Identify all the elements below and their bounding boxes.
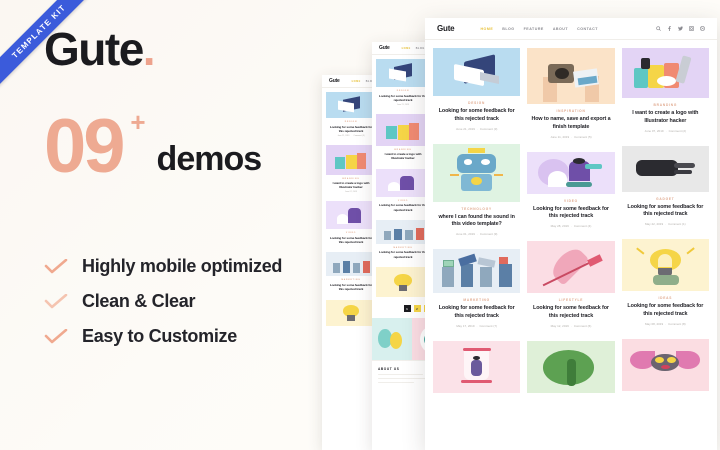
card-thumbnail-bat [622,339,709,391]
card-thumbnail-teleport [433,341,520,393]
card-category: TECHNOLOGY [437,207,516,211]
card-thumbnail-vrwoman [376,169,430,197]
card-category: LIFESTYLE [531,298,610,302]
card-caption: IDEAS Looking for some feedback for this… [622,291,709,332]
card-comments: Comment (2) [669,129,687,133]
card-title: Looking for some feedback for this rejec… [437,108,516,124]
browser-mockup-front: Gute HOME BLOG FEATURE ABOUT CONTACT [425,18,717,450]
card-date: May 22, 2019 [645,222,663,226]
card-caption: VIDEO Looking for some feedback for this… [527,194,614,235]
card-date: May 28, 2019 [551,224,569,228]
card-title: I want to create a logo with Illustrator… [378,152,428,161]
card-meta: June 21, 2019 [378,104,428,106]
list-item: Clean & Clear [44,291,374,312]
list-item[interactable] [622,339,709,391]
card-comments: Comment (6) [574,324,592,328]
card-comments: Comment (3) [480,127,498,131]
nav-item-home[interactable]: HOME [402,47,411,50]
card-meta: June 01, 2019·Comment (9) [437,232,516,236]
nav-icons [656,26,705,31]
card-title: Looking for some feedback for this rejec… [378,250,428,259]
list-item[interactable] [527,341,614,393]
card-meta: May 12, 2019·Comment (6) [531,324,610,328]
nav-logo: Gute [437,24,454,33]
card-thumbnail-bush [527,341,614,393]
list-item[interactable]: MARKETING Looking for some feedback for … [433,249,520,334]
card-title: Looking for some feedback for this rejec… [531,305,610,321]
card-comments: Comment (7) [480,324,498,328]
card-comments: Comment (5) [574,135,592,139]
card-title: Looking for some feedback for this rejec… [626,204,705,220]
list-item[interactable]: MARKETING Looking for some feedback for … [376,220,430,263]
card-thumbnail-robot [433,144,520,202]
strip-balloons [372,318,412,360]
list-item[interactable]: BRANDING I want to create a logo with Il… [376,114,430,165]
card-meta: May 28, 2019·Comment (4) [531,224,610,228]
card-thumbnail-artkit [622,48,709,98]
text-placeholder [378,378,429,380]
card-comments: Comment (4) [574,224,592,228]
card-meta: May 17, 2019·Comment (7) [437,324,516,328]
card-thumbnail-laptop [433,48,520,96]
card-caption: INSPIRATION How to name, save and export… [527,104,614,145]
grid-column: DESIGN Looking for some feedback for thi… [433,48,520,393]
card-meta: June 11, 2019·Comment (5) [531,135,610,139]
brand-dot: . [143,23,154,75]
card-thumbnail-headset [622,146,709,192]
footer-about: ABOUT US [378,367,429,384]
card-caption: GADGET Looking for some feedback for thi… [622,192,709,233]
card-thumbnail-heart [527,241,614,293]
card-thumbnail-artkit [376,114,430,146]
card-category: INSPIRATION [531,109,610,113]
instagram-icon[interactable] [689,26,694,31]
list-item: Highly mobile optimized [44,256,374,277]
card-date: June 11, 2019 [550,135,569,139]
list-item[interactable]: INSPIRATION How to name, save and export… [527,48,614,145]
card-comments: Comment (1) [668,222,686,226]
card-title: Looking for some feedback for this rejec… [531,206,610,222]
feature-list: Highly mobile optimized Clean & Clear Ea… [44,256,374,347]
card-caption: MARKETING Looking for some feedback for … [433,293,520,334]
card-date: May 17, 2019 [456,324,474,328]
list-item[interactable]: VIDEO Looking for some feedback for this… [527,152,614,235]
card-category: IDEAS [626,296,705,300]
list-item[interactable]: GADGET Looking for some feedback for thi… [622,146,709,233]
card-title: Looking for some feedback for this rejec… [626,303,705,319]
check-icon [44,259,68,275]
card-thumbnail-laptop [376,59,430,87]
card-caption: MARKETING Looking for some feedback for … [376,244,430,263]
card-category: MARKETING [378,247,428,249]
card-caption: DESIGN Looking for some feedback for thi… [433,96,520,137]
card-category: MARKETING [437,298,516,302]
feature-label: Highly mobile optimized [82,256,282,277]
search-icon[interactable] [656,26,661,31]
demos-label: demos [157,142,262,178]
feature-label: Easy to Customize [82,326,237,347]
nav-item-about[interactable]: ABOUT [553,27,568,31]
card-caption: VIDEO Looking for some feedback for this… [376,197,430,216]
nav-logo: Gute [379,45,390,51]
card-caption: TECHNOLOGY where I can found the sound i… [433,202,520,243]
card-date: May 08, 2019 [645,322,663,326]
list-item[interactable]: VIDEO Looking for some feedback for this… [376,169,430,216]
card-category: VIDEO [378,200,428,202]
card-caption: DESIGN Looking for some feedback for thi… [376,87,430,110]
template-kit-ribbon: TEMPLATE KIT [0,0,120,120]
list-item[interactable]: IDEAS Looking for some feedback for this… [622,239,709,332]
card-caption: BRANDING I want to create a logo with Il… [622,98,709,139]
card-title: Looking for some feedback for this rejec… [378,94,428,103]
card-meta: May 22, 2019·Comment (1) [626,222,705,226]
list-item[interactable]: TECHNOLOGY where I can found the sound i… [433,144,520,243]
card-date: June 07, 2019 [645,129,664,133]
demo-count-row: 09+ demos [44,116,374,178]
nav-item-blog[interactable]: BLOG [502,27,514,31]
card-title: Looking for some feedback for this rejec… [437,305,516,321]
footer-heading: ABOUT US [378,367,429,371]
card-thumbnail-megaphone [376,220,430,244]
card-thumbnail-megaphone [433,249,520,293]
nav-menu: HOME BLOG FEATURE ABOUT CONTACT [480,27,597,31]
list-item[interactable] [433,341,520,393]
card-meta: June 07, 2019·Comment (2) [626,129,705,133]
nav-item-feature[interactable]: FEATURE [524,27,544,31]
ribbon-label: TEMPLATE KIT [0,0,113,105]
grid-column: BRANDING I want to create a logo with Il… [622,48,709,393]
card-category: BRANDING [626,103,705,107]
text-placeholder [378,374,423,376]
card-meta: June 21, 2019·Comment (3) [437,127,516,131]
card-caption: BRANDING I want to create a logo with Il… [376,146,430,165]
card-thumbnail-bulb [622,239,709,291]
facebook-icon[interactable] [667,26,672,31]
card-caption: LIFESTYLE Looking for some feedback for … [527,293,614,334]
pagination-item[interactable]: 1 [404,305,411,312]
check-icon [44,294,68,310]
list-item[interactable]: DESIGN Looking for some feedback for thi… [376,59,430,110]
card-title: I want to create a logo with Illustrator… [626,110,705,126]
feature-label: Clean & Clear [82,291,195,312]
card-title: where I can found the sound in this vide… [437,214,516,230]
card-category: BRANDING [378,149,428,151]
pagination-item[interactable]: 2 [414,305,421,312]
card-category: GADGET [626,197,705,201]
list-item[interactable]: BRANDING I want to create a logo with Il… [622,48,709,139]
card-thumbnail-vrwoman [527,152,614,194]
card-category: DESIGN [437,101,516,105]
card-thumbnail-bulb [376,267,430,297]
dribbble-icon[interactable] [700,26,705,31]
grid-column: DESIGN Looking for some feedback for thi… [376,59,430,297]
card-category: DESIGN [378,90,428,92]
mockup-navbar: Gute HOME BLOG FEATURE ABOUT CONTACT [425,18,717,40]
demo-count-plus: + [130,112,142,133]
list-item[interactable]: LIFESTYLE Looking for some feedback for … [527,241,614,334]
grid-column: INSPIRATION How to name, save and export… [527,48,614,393]
card-date: May 12, 2019 [551,324,569,328]
card-comments: Comment (9) [480,232,498,236]
nav-item-contact[interactable]: CONTACT [577,27,598,31]
card-date: June 21, 2019 [456,127,475,131]
twitter-icon[interactable] [678,26,683,31]
card-date: June 21, 2019 [397,104,409,106]
card-category: VIDEO [531,199,610,203]
card-meta: May 08, 2019·Comment (8) [626,322,705,326]
card-comments: Comment (8) [668,322,686,326]
demo-count: 09+ [44,116,123,178]
card-date: June 01, 2019 [456,232,475,236]
nav-item-blog[interactable]: BLOG [416,47,425,50]
list-item: Easy to Customize [44,326,374,347]
list-item[interactable] [376,267,430,297]
check-icon [44,329,68,345]
card-grid-front: DESIGN Looking for some feedback for thi… [425,40,717,401]
list-item[interactable]: DESIGN Looking for some feedback for thi… [433,48,520,137]
nav-item-home[interactable]: HOME [480,27,493,31]
card-title: How to name, save and export a finish te… [531,116,610,132]
card-title: Looking for some feedback for this rejec… [378,203,428,212]
card-thumbnail-camera [527,48,614,104]
text-placeholder [378,382,414,384]
